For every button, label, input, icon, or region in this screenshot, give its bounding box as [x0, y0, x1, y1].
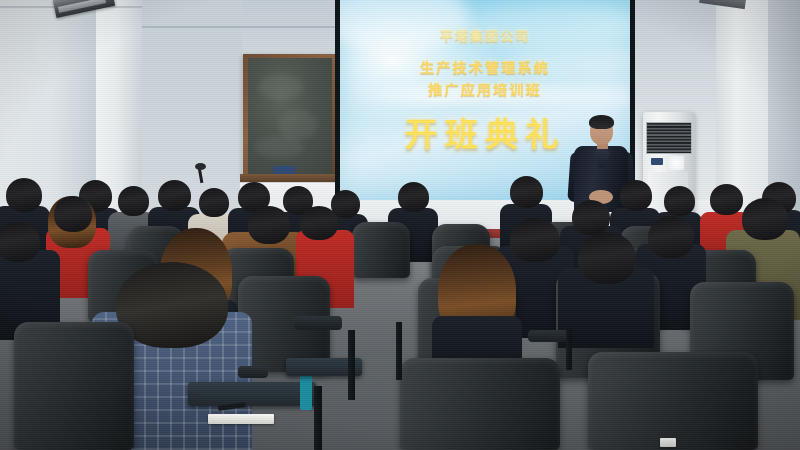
auditorium-seat[interactable] — [14, 322, 134, 450]
audience-head — [572, 200, 610, 235]
seat-armrest — [238, 366, 268, 378]
audience-head — [648, 216, 694, 258]
air-conditioner-grille-icon — [646, 122, 692, 154]
audience-head — [664, 186, 695, 216]
audience-head — [510, 176, 543, 208]
auditorium-seat[interactable] — [400, 358, 560, 450]
notepad[interactable] — [208, 414, 274, 424]
air-conditioner-display — [651, 158, 663, 165]
seat-support-post — [396, 322, 402, 380]
audience-head — [710, 184, 743, 215]
tablet-arm-desk[interactable] — [188, 382, 316, 406]
seat-support-post — [314, 386, 322, 450]
audience-head — [0, 222, 40, 262]
auditorium-seat[interactable] — [352, 222, 410, 278]
audience-head — [248, 206, 290, 244]
tablet-arm-desk-edge — [300, 372, 312, 410]
slide-company-line: 平塔集团公司 — [340, 26, 630, 45]
microphone-icon — [195, 163, 206, 170]
audience-head — [510, 218, 560, 262]
audience-head — [118, 186, 149, 216]
audience-head — [742, 198, 788, 240]
slide-subtitle-line-2: 推广应用培训班 — [340, 80, 630, 100]
air-conditioner-reflection — [668, 156, 684, 170]
blackboard — [248, 58, 332, 174]
speaker-hair — [589, 115, 614, 129]
audience-head — [199, 188, 229, 217]
auditorium-seat[interactable] — [588, 352, 758, 450]
audience-head — [54, 196, 92, 232]
seat-armrest — [294, 316, 342, 330]
audience-head — [158, 180, 191, 211]
audience-head — [620, 180, 652, 211]
audience-head — [300, 206, 338, 240]
slide-subtitle-line-1: 生产技术管理系统 — [340, 58, 630, 78]
audience-head — [578, 232, 636, 284]
photograph-scene: 平塔集团公司 生产技术管理系统 推广应用培训班 开班典礼 — [0, 0, 800, 450]
blackboard-ledge — [240, 174, 340, 182]
paper-scrap — [660, 438, 676, 447]
seat-support-post — [348, 330, 355, 400]
audience-head — [398, 182, 429, 212]
audience-head — [6, 178, 42, 212]
seat-support-post — [566, 330, 572, 370]
